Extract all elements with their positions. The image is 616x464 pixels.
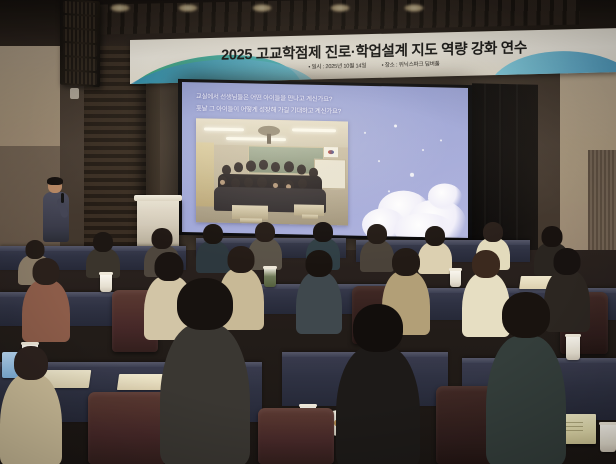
ceiling-light-icon (110, 4, 130, 12)
banner-venue: • 장소 : 위닉스파크 딥버풀 (382, 61, 440, 68)
audience-person (336, 304, 420, 464)
paper-cup (600, 424, 616, 452)
banner-date: • 일시 : 2025년 10월 14일 (308, 63, 366, 70)
ceiling-light-icon (252, 4, 272, 12)
audience-person (0, 346, 62, 464)
photo-chalkboard (248, 145, 324, 175)
paper-cup (566, 336, 580, 360)
korean-flag-icon (324, 147, 338, 157)
photo-side-board (314, 159, 346, 190)
slide-line-2: 훗날 그 아이들이 어떻게 성장해 가길 기대하고 계신가요? (196, 103, 341, 115)
audience-person (486, 292, 566, 464)
audience-person (86, 232, 120, 276)
line-array-speaker (60, 0, 100, 87)
slide-line-1: 교실에서 선생님들은 어떤 아이들을 만나고 계신가요? (196, 91, 332, 103)
projection-screen-frame: 교실에서 선생님들은 어떤 아이들을 만나고 계신가요? 훗날 그 아이들이 어… (178, 79, 472, 241)
ceiling-light-icon (330, 4, 350, 12)
photo-bookshelf (196, 142, 214, 206)
iced-coffee-cup (264, 268, 276, 287)
audience-person (160, 278, 250, 464)
slide-classroom-photo (196, 118, 348, 225)
paper-cup (100, 274, 112, 292)
audience-person (22, 258, 70, 340)
photo-scene: 2025 고교학점제 진로·학업설계 지도 역량 강화 연수 • 일시 : 20… (0, 0, 616, 464)
projection-screen: 교실에서 선생님들은 어떤 아이들을 만나고 계신가요? 훗날 그 아이들이 어… (182, 82, 468, 238)
microphone-icon (61, 193, 64, 203)
ceiling-light-icon (404, 4, 424, 12)
ceiling-light-icon (178, 4, 198, 12)
chair (258, 408, 334, 464)
ceiling-camera-icon (70, 88, 79, 99)
chair (88, 392, 166, 464)
paper-cup (450, 270, 461, 287)
